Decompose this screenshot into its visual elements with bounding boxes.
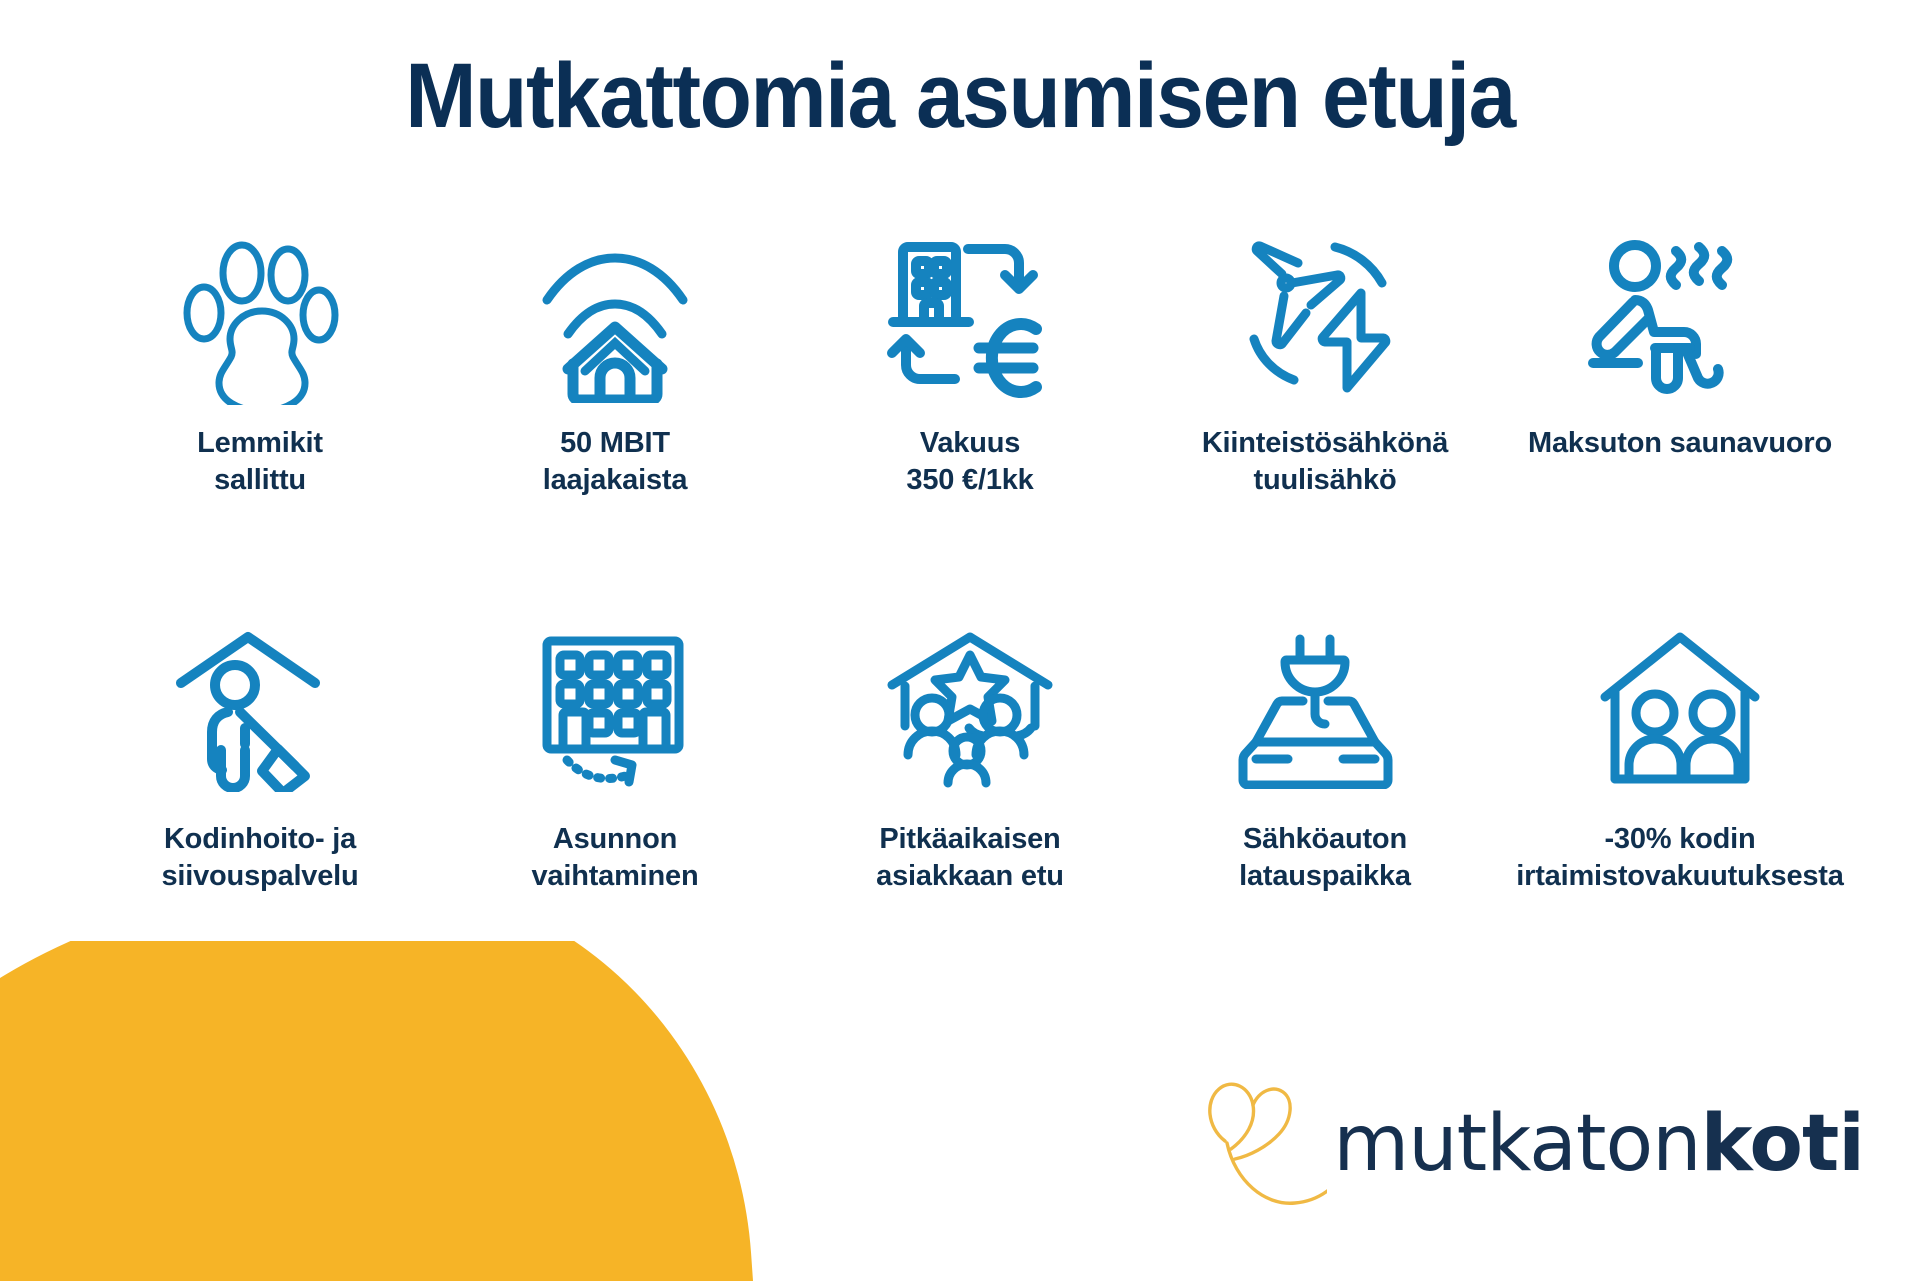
icon-container — [173, 619, 348, 799]
icon-container — [875, 225, 1065, 415]
electric-car-plug-icon — [1238, 629, 1413, 789]
benefit-label: Maksuton saunavuoro — [1528, 425, 1832, 462]
benefit-label: Vakuus 350 €/1kk — [906, 425, 1033, 499]
house-star-family-icon — [883, 629, 1058, 789]
benefit-label: Kodinhoito- ja siivouspalvelu — [161, 821, 358, 895]
icon-container — [530, 225, 700, 415]
building-euro-exchange-icon — [875, 230, 1065, 410]
benefit-item-loyalty: Pitkäaikaisen asiakkaan etu — [800, 619, 1140, 895]
logo-text-bold: koti — [1701, 1099, 1864, 1189]
infographic-canvas: Mutkattomia asumisen etuja — [0, 0, 1920, 1281]
logo-wordmark: mutkatonkoti — [1333, 1105, 1864, 1183]
benefit-item-cleaning: Kodinhoito- ja siivouspalvelu — [90, 619, 430, 895]
page-title: Mutkattomia asumisen etuja — [67, 44, 1853, 149]
yellow-blob-shape — [0, 941, 755, 1281]
benefit-label: Pitkäaikaisen asiakkaan etu — [876, 821, 1064, 895]
benefit-item-sauna: Maksuton saunavuoro — [1510, 225, 1850, 462]
icon-container — [1235, 225, 1415, 415]
wind-turbine-lightning-icon — [1235, 233, 1415, 408]
icon-container — [883, 619, 1058, 799]
benefits-row-1: Lemmikit sallittu — [90, 225, 1850, 499]
sauna-person-steam-icon — [1588, 238, 1773, 403]
benefit-item-apartment-swap: Asunnon vaihtaminen — [445, 619, 785, 895]
heart-swoosh-icon — [1197, 1069, 1327, 1219]
benefit-item-windpower: Kiinteistösähkönä tuulisähkö — [1155, 225, 1495, 499]
benefit-label: Asunnon vaihtaminen — [531, 821, 698, 895]
benefit-label: 50 MBIT laajakaista — [543, 425, 688, 499]
benefit-item-pets: Lemmikit sallittu — [90, 225, 430, 499]
benefit-item-deposit: Vakuus 350 €/1kk — [800, 225, 1140, 499]
benefit-label: Kiinteistösähkönä tuulisähkö — [1202, 425, 1448, 499]
cleaning-person-mop-icon — [173, 627, 348, 792]
benefits-grid: Lemmikit sallittu — [90, 225, 1850, 895]
logo-text-regular: mutkaton — [1333, 1099, 1700, 1189]
icon-container — [1588, 225, 1773, 415]
brand-logo: mutkatonkoti — [1197, 1069, 1864, 1219]
benefit-label: -30% kodin irtaimistovakuutuksesta — [1516, 821, 1843, 895]
icon-container — [1593, 619, 1768, 799]
house-two-people-icon — [1593, 629, 1768, 789]
apartment-building-swap-icon — [533, 629, 698, 789]
icon-container — [180, 225, 340, 415]
benefits-row-2: Kodinhoito- ja siivouspalvelu — [90, 619, 1850, 895]
yellow-blob-container — [0, 941, 820, 1281]
benefit-item-ev-charging: Sähköauton latauspaikka — [1155, 619, 1495, 895]
benefit-label: Sähköauton latauspaikka — [1239, 821, 1411, 895]
paw-print-icon — [180, 235, 340, 405]
benefit-label: Lemmikit sallittu — [197, 425, 323, 499]
wifi-house-icon — [530, 238, 700, 403]
icon-container — [1238, 619, 1413, 799]
benefit-item-broadband: 50 MBIT laajakaista — [445, 225, 785, 499]
benefit-item-insurance: -30% kodin irtaimistovakuutuksesta — [1510, 619, 1850, 895]
icon-container — [533, 619, 698, 799]
